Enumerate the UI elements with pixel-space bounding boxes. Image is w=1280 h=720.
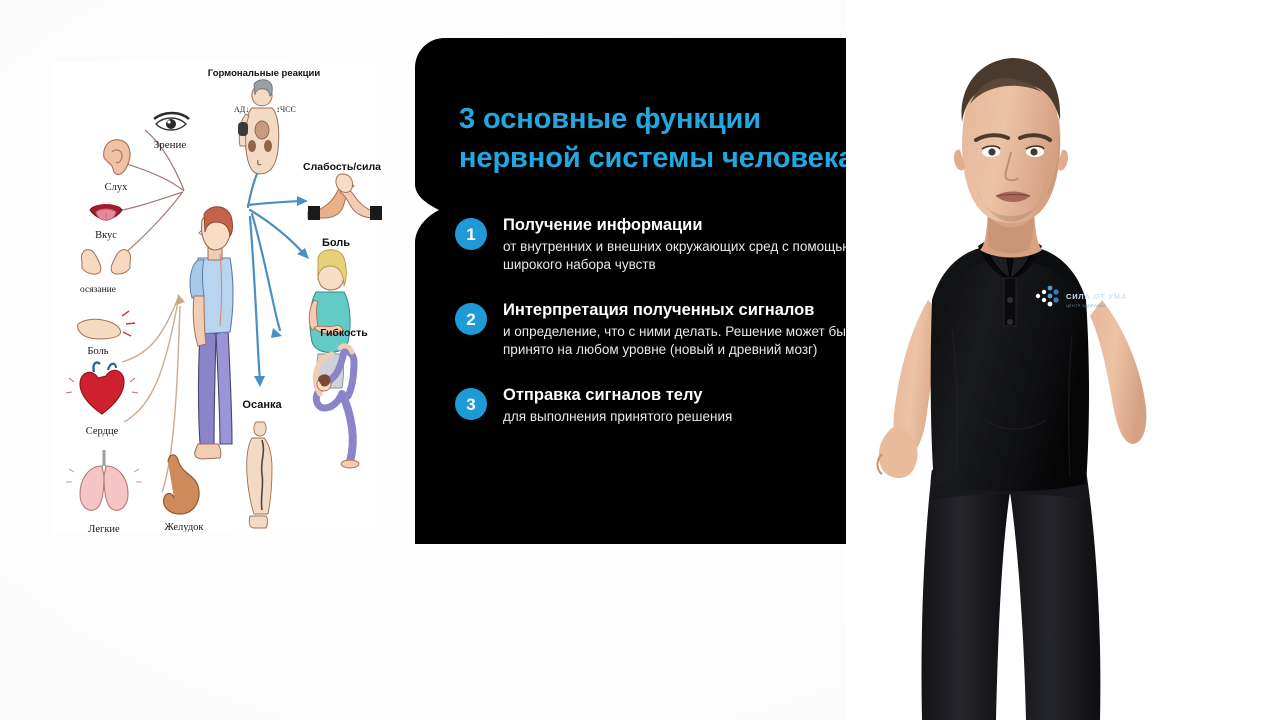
arm-wrestling-icon bbox=[308, 174, 382, 220]
nervous-system-diagram: Зрение Слух Вкус осязание bbox=[52, 62, 382, 532]
presentation-slide-card: 3 основные функции нервной системы челов… bbox=[415, 38, 911, 544]
diagram-label-hearing: Слух bbox=[105, 182, 128, 193]
diagram-label-heart: Сердце bbox=[86, 426, 119, 437]
logo-text: СИЛА ОТ УМА bbox=[1066, 292, 1127, 301]
slide-title: 3 основные функции нервной системы челов… bbox=[459, 100, 889, 177]
item-text-block-3: Отправка сигналов телу для выполнения пр… bbox=[503, 386, 885, 426]
item-number-badge-1: 1 bbox=[455, 218, 487, 250]
hormone-mark-bp: АД↓ bbox=[234, 105, 249, 114]
slide-function-list: 1 Получение информации от внутренних и в… bbox=[455, 216, 885, 453]
presenter-figure: СИЛА ОТ УМА ЦЕНТР ЗДОРОВЬЯ bbox=[846, 0, 1280, 720]
item-body-2: и определение, что с ними делать. Решени… bbox=[503, 323, 885, 360]
item-body-1: от внутренних и внешних окружающих сред … bbox=[503, 238, 885, 275]
diagram-label-hormonal: Гормональные реакции bbox=[208, 68, 321, 79]
video-frame: Зрение Слух Вкус осязание bbox=[0, 0, 1280, 720]
item-heading-3: Отправка сигналов телу bbox=[503, 386, 885, 406]
logo-subtext: ЦЕНТР ЗДОРОВЬЯ bbox=[1066, 304, 1106, 308]
diagram-label-vision: Зрение bbox=[154, 139, 187, 151]
diagram-label-taste: Вкус bbox=[95, 230, 117, 241]
diagram-label-strength: Слабость/сила bbox=[303, 161, 381, 173]
slide-content: 3 основные функции нервной системы челов… bbox=[415, 38, 911, 544]
item-text-block-2: Интерпретация полученных сигналов и опре… bbox=[503, 301, 885, 360]
list-item: 1 Получение информации от внутренних и в… bbox=[455, 216, 885, 275]
item-number-badge-3: 3 bbox=[455, 388, 487, 420]
item-body-3: для выполнения принятого решения bbox=[503, 408, 885, 427]
item-number-badge-2: 2 bbox=[455, 303, 487, 335]
diagram-label-stomach: Желудок bbox=[164, 522, 204, 532]
item-heading-1: Получение информации bbox=[503, 216, 885, 236]
diagram-label-pain-output: Боль bbox=[322, 237, 350, 249]
diagram-label-posture: Осанка bbox=[242, 399, 282, 411]
hormone-mark-hr: ↕ЧСС bbox=[276, 105, 296, 114]
diagram-label-touch: осязание bbox=[80, 285, 116, 295]
diagram-label-lungs: Легкие bbox=[88, 524, 120, 532]
diagram-label-flexibility: Гибкость bbox=[320, 327, 368, 339]
diagram-label-pain-input: Боль bbox=[87, 346, 108, 357]
diagram-illustration: Зрение Слух Вкус осязание bbox=[52, 62, 382, 532]
list-item: 2 Интерпретация полученных сигналов и оп… bbox=[455, 301, 885, 360]
presenter-video: СИЛА ОТ УМА ЦЕНТР ЗДОРОВЬЯ bbox=[846, 0, 1280, 720]
item-heading-2: Интерпретация полученных сигналов bbox=[503, 301, 885, 321]
item-text-block-1: Получение информации от внутренних и вне… bbox=[503, 216, 885, 275]
list-item: 3 Отправка сигналов телу для выполнения … bbox=[455, 386, 885, 426]
